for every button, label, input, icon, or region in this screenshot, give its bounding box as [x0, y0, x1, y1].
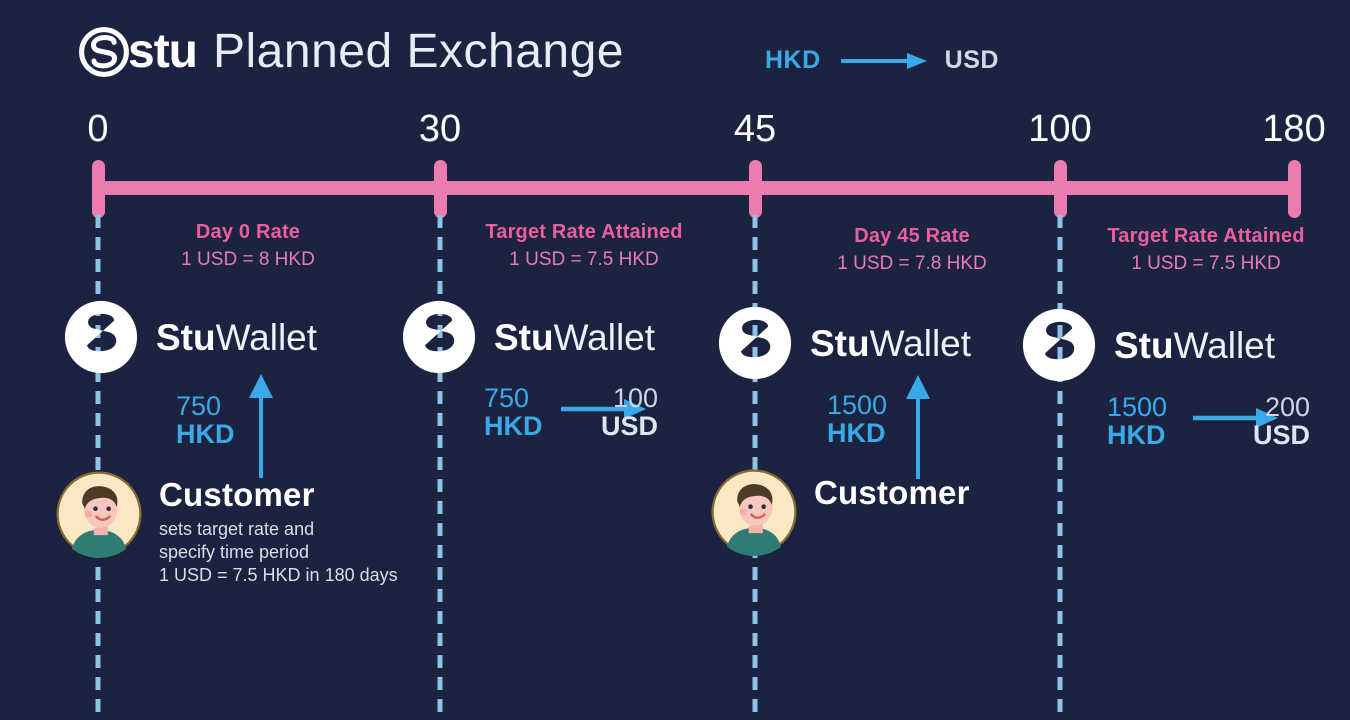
customer-block: Customersets target rate andspecify time…	[55, 470, 398, 587]
amount-value: 750	[176, 392, 235, 420]
customer-avatar-icon	[55, 470, 143, 558]
rate-title: Target Rate Attained	[485, 220, 682, 245]
stuwallet-logo-icon	[398, 296, 480, 378]
timeline-guide-line	[1058, 215, 1063, 720]
rate-block: Day 45 Rate1 USD = 7.8 HKD	[837, 224, 986, 276]
deposit-amount: 1500HKD	[827, 391, 887, 448]
amount-currency: HKD	[484, 412, 543, 440]
rate-sub: 1 USD = 7.5 HKD	[1107, 253, 1304, 276]
header: stu Planned Exchange HKD USD	[0, 0, 1350, 105]
customer-detail-line: specify time period	[159, 541, 398, 564]
amount-value: 1500	[1107, 393, 1167, 421]
amount-currency: HKD	[1107, 421, 1167, 449]
arrow-right-icon	[839, 52, 927, 70]
wallet-name: StuWallet	[494, 319, 655, 356]
rate-title: Day 0 Rate	[181, 220, 315, 245]
stuwallet-logo-icon	[714, 302, 796, 384]
deposit-amount: 750HKD	[176, 392, 235, 449]
wallet-row: StuWallet	[1018, 304, 1275, 386]
customer-detail-line: sets target rate and	[159, 518, 398, 541]
amount-value: 100	[538, 384, 658, 412]
timeline-tick	[1054, 160, 1067, 218]
customer-text: Customer	[814, 468, 970, 511]
rate-title: Day 45 Rate	[837, 224, 986, 249]
amount-currency: HKD	[827, 419, 887, 447]
brand-name-rest: Planned Exchange	[213, 28, 624, 76]
wallet-name-rest: Wallet	[216, 317, 317, 358]
rate-sub: 1 USD = 7.8 HKD	[837, 253, 986, 276]
timeline-tick	[434, 160, 447, 218]
timeline-guide-line	[96, 215, 101, 720]
currency-pair: HKD USD	[765, 46, 999, 75]
wallet-name-rest: Wallet	[1174, 325, 1275, 366]
rate-sub: 1 USD = 8 HKD	[181, 249, 315, 272]
arrow-up-icon	[905, 375, 931, 481]
timeline-tick-label: 100	[1028, 110, 1091, 148]
exchange-to-amount: 200USD	[1190, 393, 1310, 450]
customer-avatar-icon	[710, 468, 798, 556]
wallet-name: StuWallet	[1114, 327, 1275, 364]
rate-title: Target Rate Attained	[1107, 224, 1304, 249]
timeline-guide-line	[438, 215, 443, 720]
timeline-tick-label: 0	[87, 110, 108, 148]
amount-value: 750	[484, 384, 543, 412]
pair-to-label: USD	[945, 46, 999, 75]
amount-value: 1500	[827, 391, 887, 419]
customer-details: sets target rate andspecify time period1…	[159, 518, 398, 587]
pair-from-label: HKD	[765, 46, 821, 75]
exchange-to-amount: 100USD	[538, 384, 658, 441]
customer-text: Customersets target rate andspecify time…	[159, 470, 398, 587]
customer-title: Customer	[814, 476, 970, 511]
timeline-tick-label: 180	[1262, 110, 1325, 148]
arrow-up-icon	[248, 374, 274, 480]
stuwallet-logo-icon	[1018, 304, 1100, 386]
wallet-name: StuWallet	[156, 319, 317, 356]
brand-logo: stu Planned Exchange	[76, 24, 624, 80]
timeline-tick	[749, 160, 762, 218]
wallet-name-bold: Stu	[810, 323, 870, 364]
rate-block: Target Rate Attained1 USD = 7.5 HKD	[1107, 224, 1304, 276]
customer-detail-line: 1 USD = 7.5 HKD in 180 days	[159, 564, 398, 587]
rate-sub: 1 USD = 7.5 HKD	[485, 249, 682, 272]
timeline-tick	[92, 160, 105, 218]
wallet-row: StuWallet	[398, 296, 655, 378]
timeline-tick-label: 30	[419, 110, 461, 148]
wallet-name-rest: Wallet	[554, 317, 655, 358]
wallet-name-rest: Wallet	[870, 323, 971, 364]
brand-name-bold: stu	[128, 28, 197, 76]
wallet-row: StuWallet	[60, 296, 317, 378]
customer-block: Customer	[710, 468, 970, 556]
exchange-from-amount: 750HKD	[484, 384, 543, 441]
rate-block: Day 0 Rate1 USD = 8 HKD	[181, 220, 315, 272]
stuwallet-logo-icon	[60, 296, 142, 378]
customer-title: Customer	[159, 478, 398, 513]
stu-circle-s-logo-icon	[76, 24, 132, 80]
wallet-name-bold: Stu	[494, 317, 554, 358]
amount-value: 200	[1190, 393, 1310, 421]
wallet-name-bold: Stu	[1114, 325, 1174, 366]
wallet-row: StuWallet	[714, 302, 971, 384]
amount-currency: USD	[1190, 421, 1310, 449]
exchange-from-amount: 1500HKD	[1107, 393, 1167, 450]
amount-currency: HKD	[176, 420, 235, 448]
wallet-name-bold: Stu	[156, 317, 216, 358]
timeline-tick-label: 45	[734, 110, 776, 148]
timeline-tick	[1288, 160, 1301, 218]
wallet-name: StuWallet	[810, 325, 971, 362]
amount-currency: USD	[538, 412, 658, 440]
rate-block: Target Rate Attained1 USD = 7.5 HKD	[485, 220, 682, 272]
timeline-bar	[92, 181, 1300, 195]
